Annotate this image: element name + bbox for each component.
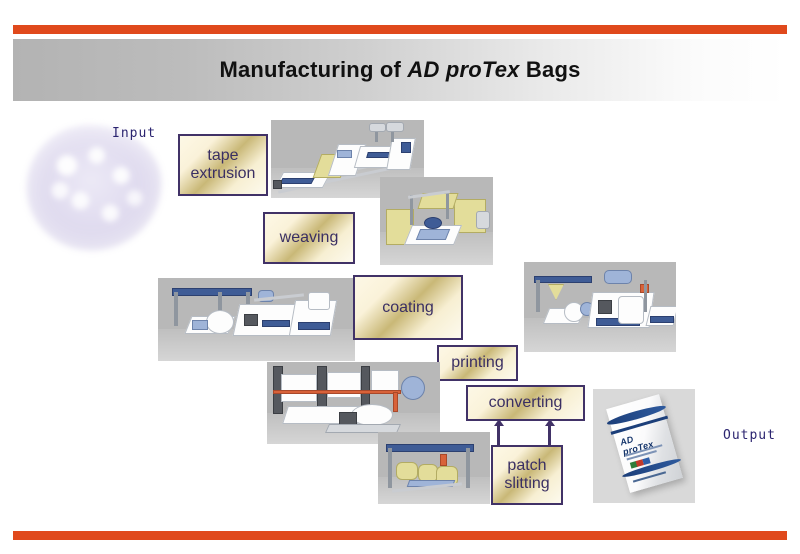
arrow-slitting-to-converting-right [548,425,551,445]
title-suffix: Bags [520,57,581,82]
process-label-line2: extrusion [191,165,256,183]
process-label-line1: converting [489,394,563,412]
slide-canvas: Manufacturing of AD proTex Bags Input ta… [0,0,800,554]
process-label-line2: slitting [504,475,549,493]
output-label: Output [723,428,776,443]
slide-header: Manufacturing of AD proTex Bags [13,39,787,101]
process-label-line1: coating [382,299,434,317]
page-title: Manufacturing of AD proTex Bags [219,57,580,83]
photo-coating-line [158,278,355,361]
process-box-tape-extrusion[interactable]: tape extrusion [178,134,268,196]
input-label: Input [112,126,156,141]
photo-slitting-machine [378,432,490,504]
process-box-printing[interactable]: printing [437,345,518,381]
top-accent-bar [13,25,787,34]
bag-render: AD proTex [607,394,684,492]
photo-product-bag: AD proTex [593,389,695,503]
process-box-patch-slitting[interactable]: patch slitting [491,445,563,505]
title-prefix: Manufacturing of [219,57,407,82]
arrow-slitting-to-converting-left [497,425,500,445]
photo-printing-press [524,262,676,352]
bottom-accent-bar [13,531,787,540]
process-box-converting[interactable]: converting [466,385,585,421]
process-label-line1: weaving [280,229,339,247]
process-box-weaving[interactable]: weaving [263,212,355,264]
title-brand: AD proTex [407,57,519,82]
photo-weaving-loom [380,177,493,265]
process-label-line1: tape [191,147,256,165]
process-label-line1: printing [451,354,503,372]
process-label-line1: patch [504,457,549,475]
process-box-coating[interactable]: coating [353,275,463,340]
